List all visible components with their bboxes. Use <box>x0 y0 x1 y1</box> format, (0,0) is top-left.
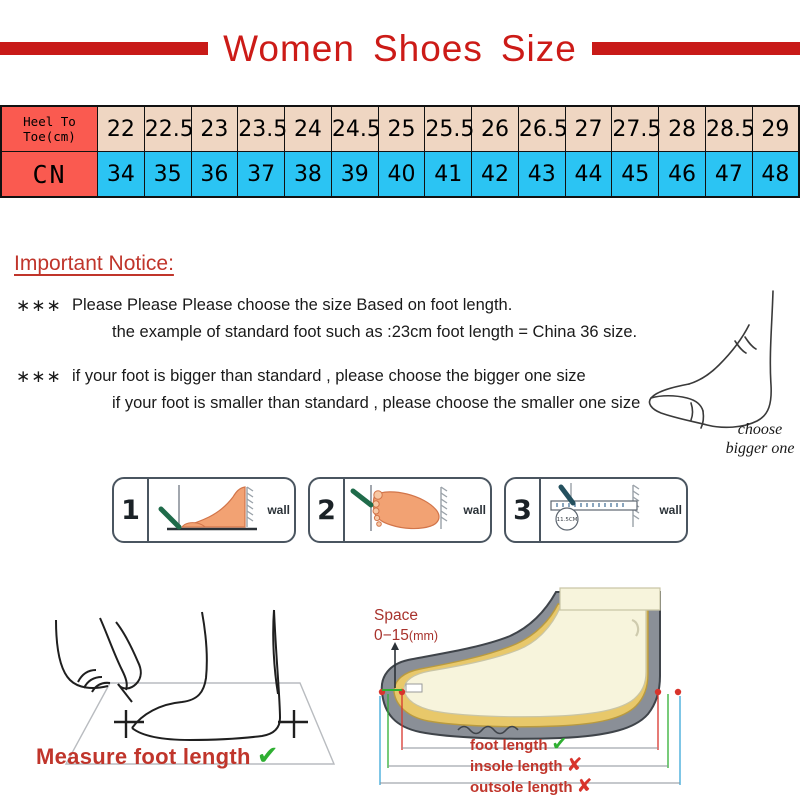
notice-stars-spacer-1 <box>0 319 72 346</box>
size-cell-cm-8: 26 <box>472 106 519 152</box>
size-cell-cn-13: 47 <box>705 152 752 198</box>
notice-line-2: the example of standard foot such as :23… <box>0 319 700 346</box>
size-cell-cm-4: 24 <box>285 106 332 152</box>
legend-label-1: insole length <box>470 758 563 775</box>
size-cell-cn-8: 42 <box>472 152 519 198</box>
size-cell-cm-2: 23 <box>191 106 238 152</box>
size-cell-cm-6: 25 <box>378 106 425 152</box>
notice-stars-1: ∗∗∗ <box>0 292 72 319</box>
step-number-2: 2 <box>310 479 345 541</box>
measure-check-icon: ✔ <box>257 740 279 770</box>
step-body-1: wall <box>149 479 294 541</box>
size-cell-cm-1: 22.5 <box>144 106 191 152</box>
step-wall-label-2: wall <box>463 503 486 517</box>
notice-line-1: ∗∗∗ Please Please Please choose the size… <box>0 292 700 319</box>
legend-label-2: outsole length <box>470 779 573 796</box>
size-cell-cn-4: 38 <box>285 152 332 198</box>
row-label-heel-to-toe: Heel To Toe(cm) <box>1 106 98 152</box>
title-word-size: Size <box>501 28 577 69</box>
title-rule-right <box>592 42 800 55</box>
size-cell-cn-3: 37 <box>238 152 285 198</box>
notice-heading: Important Notice: <box>14 252 174 276</box>
size-table: Heel To Toe(cm) 2222.52323.52424.52525.5… <box>0 105 800 198</box>
size-cell-cn-2: 36 <box>191 152 238 198</box>
choose-bigger-caption: choose bigger one <box>700 420 800 458</box>
notice-text-4: if your foot is smaller than standard , … <box>72 390 700 417</box>
size-cell-cm-3: 23.5 <box>238 106 285 152</box>
step-panel-2: 2 wall <box>308 477 492 543</box>
space-label-line2: 0−15(mm) <box>374 626 438 646</box>
step-panel-1: 1 wall <box>112 477 296 543</box>
legend-mark-0-ok: ✔ <box>551 734 567 755</box>
space-value: 0−15 <box>374 627 409 644</box>
row-label-cn: CN <box>1 152 98 198</box>
notice-stars-2: ∗∗∗ <box>0 363 72 390</box>
notice-text-1: Please Please Please choose the size Bas… <box>72 292 700 319</box>
size-table-container: Heel To Toe(cm) 2222.52323.52424.52525.5… <box>0 105 800 198</box>
size-cell-cm-12: 28 <box>659 106 706 152</box>
size-cell-cm-10: 27 <box>565 106 612 152</box>
size-cell-cn-11: 45 <box>612 152 659 198</box>
notice-text-3: if your foot is bigger than standard , p… <box>72 363 700 390</box>
shoe-measure-legend: foot length✔insole length✘outsole length… <box>470 735 770 798</box>
space-annotation: Space 0−15(mm) <box>374 606 438 646</box>
step-number-3: 3 <box>506 479 541 541</box>
notice-line-4: if your foot is smaller than standard , … <box>0 390 700 417</box>
space-unit: (mm) <box>409 629 438 643</box>
table-row-heel-to-toe: Heel To Toe(cm) 2222.52323.52424.52525.5… <box>1 106 799 152</box>
title-rule-left <box>0 42 208 55</box>
step-wall-label-3: wall <box>659 503 682 517</box>
size-chart-page: WomenShoesSize Heel To Toe(cm) 2222.5232… <box>0 0 800 800</box>
notice-block: ∗∗∗ Please Please Please choose the size… <box>0 292 700 417</box>
choose-caption-line2: bigger one <box>700 439 800 458</box>
legend-label-0: foot length <box>470 737 547 754</box>
notice-stars-spacer-2 <box>0 390 72 417</box>
legend-row-0: foot length✔ <box>470 735 770 756</box>
space-label-line1: Space <box>374 606 438 626</box>
legend-row-2: outsole length✘ <box>470 777 770 798</box>
size-cell-cm-5: 24.5 <box>331 106 378 152</box>
size-cell-cn-0: 34 <box>98 152 145 198</box>
size-cell-cn-1: 35 <box>144 152 191 198</box>
ruler-value-label: 11.5CM <box>557 517 578 523</box>
size-cell-cn-9: 43 <box>518 152 565 198</box>
measure-steps: 1 wall 2 <box>112 477 688 543</box>
size-cell-cm-14: 29 <box>752 106 799 152</box>
size-cell-cn-5: 39 <box>331 152 378 198</box>
step-body-2: wall <box>345 479 490 541</box>
size-cell-cn-14: 48 <box>752 152 799 198</box>
size-cell-cm-7: 25.5 <box>425 106 472 152</box>
notice-gap <box>0 346 700 363</box>
measure-caption-text: Measure foot length <box>36 744 251 769</box>
size-cell-cm-11: 27.5 <box>612 106 659 152</box>
choose-caption-line1: choose <box>700 420 800 439</box>
table-row-cn: CN 343536373839404142434445464748 <box>1 152 799 198</box>
title-word-shoes: Shoes <box>373 28 483 69</box>
size-cell-cm-13: 28.5 <box>705 106 752 152</box>
title-word-women: Women <box>223 28 355 69</box>
size-cell-cn-10: 44 <box>565 152 612 198</box>
legend-mark-2-no: ✘ <box>577 776 593 797</box>
notice-line-3: ∗∗∗ if your foot is bigger than standard… <box>0 363 700 390</box>
step-wall-label-1: wall <box>267 503 290 517</box>
step-number-1: 1 <box>114 479 149 541</box>
step-panel-3: 3 <box>504 477 688 543</box>
notice-text-2: the example of standard foot such as :23… <box>72 319 700 346</box>
measure-foot-length-caption: Measure foot length✔ <box>36 740 279 771</box>
size-cell-cn-12: 46 <box>659 152 706 198</box>
size-cell-cn-6: 40 <box>378 152 425 198</box>
page-title-text: WomenShoesSize <box>208 30 592 67</box>
legend-row-1: insole length✘ <box>470 756 770 777</box>
legend-mark-1-no: ✘ <box>567 755 583 776</box>
size-cell-cm-9: 26.5 <box>518 106 565 152</box>
size-cell-cm-0: 22 <box>98 106 145 152</box>
size-cell-cn-7: 41 <box>425 152 472 198</box>
step-body-3: 11.5CM wall <box>541 479 686 541</box>
page-title: WomenShoesSize <box>0 22 800 74</box>
